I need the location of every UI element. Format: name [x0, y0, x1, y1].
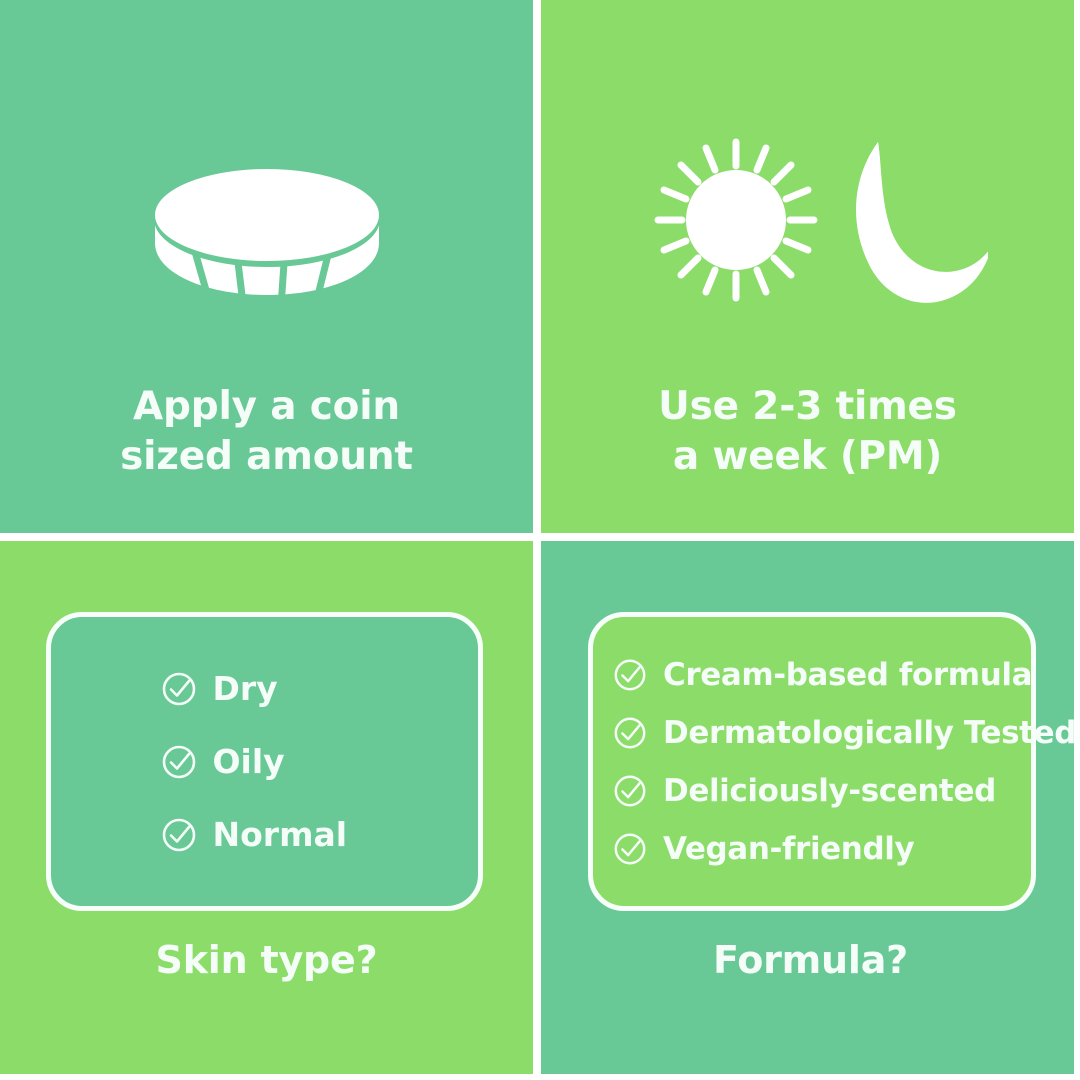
- usage-frequency-caption-line1: Use 2-3 times: [658, 384, 957, 429]
- apply-amount-caption-line1: Apply a coin: [133, 384, 400, 429]
- skin-type-caption: Skin type?: [0, 938, 533, 982]
- formula-caption: Formula?: [541, 938, 1080, 982]
- coin-stack-icon: [0, 120, 533, 350]
- list-item-label: Oily: [213, 742, 285, 781]
- list-item[interactable]: Deliciously-scented: [612, 773, 996, 809]
- list-item-label: Dry: [213, 669, 278, 708]
- check-circle-icon: [612, 773, 648, 809]
- skin-type-list: Dry Oily Normal: [51, 617, 478, 906]
- list-item-label: Dermatologically Tested: [663, 715, 1076, 751]
- horizontal-divider: [0, 533, 1080, 541]
- list-item[interactable]: Oily: [160, 742, 370, 781]
- list-item[interactable]: Normal: [160, 815, 370, 854]
- sun-and-moon-icons: [541, 100, 1074, 340]
- list-item-label: Deliciously-scented: [663, 773, 996, 809]
- sun-icon: [658, 142, 814, 298]
- list-item[interactable]: Vegan-friendly: [612, 831, 914, 867]
- list-item[interactable]: Dermatologically Tested: [612, 715, 1076, 751]
- check-circle-icon: [160, 816, 198, 854]
- list-item-label: Vegan-friendly: [663, 831, 914, 867]
- formula-card: Cream-based formula Dermatologically Tes…: [588, 612, 1036, 911]
- check-circle-icon: [160, 743, 198, 781]
- check-circle-icon: [612, 657, 648, 693]
- panel-usage-frequency: Use 2-3 times a week (PM): [541, 0, 1074, 533]
- usage-frequency-caption-line2: a week (PM): [541, 432, 1074, 482]
- list-item[interactable]: Cream-based formula: [612, 657, 1032, 693]
- list-item-label: Normal: [213, 815, 348, 854]
- list-item[interactable]: Dry: [160, 669, 370, 708]
- apply-amount-caption: Apply a coin sized amount: [0, 382, 533, 482]
- formula-list: Cream-based formula Dermatologically Tes…: [593, 617, 1031, 906]
- check-circle-icon: [160, 670, 198, 708]
- apply-amount-caption-line2: sized amount: [0, 432, 533, 482]
- list-item-label: Cream-based formula: [663, 657, 1032, 693]
- usage-frequency-caption: Use 2-3 times a week (PM): [541, 382, 1074, 482]
- product-info-grid: Apply a coin sized amount: [0, 0, 1080, 1080]
- check-circle-icon: [612, 831, 648, 867]
- check-circle-icon: [612, 715, 648, 751]
- crescent-moon-icon: [822, 120, 988, 320]
- panel-apply-amount: Apply a coin sized amount: [0, 0, 533, 533]
- skin-type-card: Dry Oily Normal: [46, 612, 483, 911]
